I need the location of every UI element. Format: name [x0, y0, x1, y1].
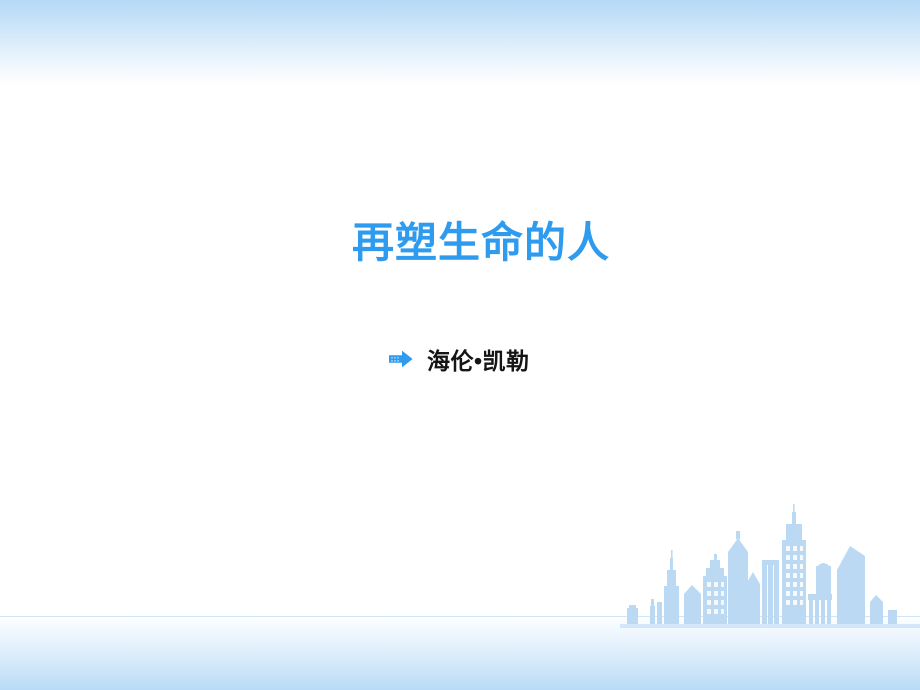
page-title: 再塑生命的人	[352, 219, 610, 267]
author-line: 海伦•凯勒	[389, 342, 530, 376]
city-skyline-silhouette	[620, 498, 920, 628]
bottom-band-divider	[0, 616, 920, 617]
top-gradient-band	[0, 0, 920, 86]
slide-canvas: 再塑生命的人 海伦•凯勒	[0, 0, 920, 690]
right-arrow-icon	[389, 350, 413, 368]
author-name: 海伦•凯勒	[427, 342, 530, 376]
bottom-gradient-band	[0, 615, 920, 690]
